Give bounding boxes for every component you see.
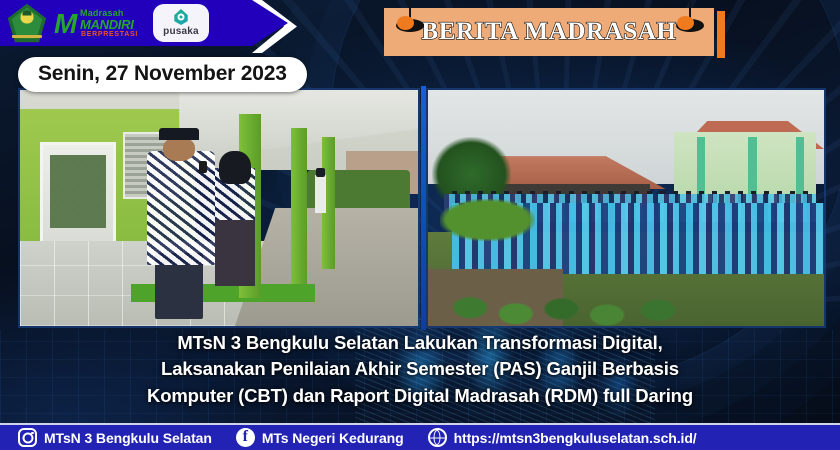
pin-icon-left (396, 12, 424, 30)
madrasah-mandiri-logo: M Madrasah MANDIRI BERPRESTASI (54, 3, 146, 43)
footer-website[interactable]: https://mtsn3bengkuluselatan.sch.id/ (428, 428, 697, 447)
headline-line-1: MTsN 3 Bengkulu Selatan Lakukan Transfor… (20, 330, 820, 356)
facebook-handle: MTs Negeri Kedurang (262, 430, 404, 446)
photo-divider-accent (421, 86, 426, 330)
footer-bar: MTsN 3 Bengkulu Selatan MTs Negeri Kedur… (0, 423, 840, 450)
headline-line-2: Laksanakan Penilaian Akhir Semester (PAS… (20, 356, 820, 382)
mandiri-line3: BERPRESTASI (81, 31, 138, 38)
news-banner-title: BERITA MADRASAH (421, 18, 676, 46)
footer-facebook[interactable]: MTs Negeri Kedurang (236, 428, 404, 447)
instagram-handle: MTsN 3 Bengkulu Selatan (44, 430, 212, 446)
footer-instagram[interactable]: MTsN 3 Bengkulu Selatan (18, 428, 212, 447)
news-poster: M Madrasah MANDIRI BERPRESTASI pusaka Se… (0, 0, 840, 450)
pusaka-drop-icon (173, 9, 189, 25)
photo-principal-speech (20, 90, 418, 326)
instagram-icon[interactable] (18, 428, 37, 447)
globe-icon[interactable] (428, 428, 447, 447)
facebook-icon[interactable] (236, 428, 255, 447)
news-banner-wrapper: BERITA MADRASAH (384, 8, 724, 56)
headline: MTsN 3 Bengkulu Selatan Lakukan Transfor… (20, 330, 820, 409)
logo-banner: M Madrasah MANDIRI BERPRESTASI pusaka (0, 0, 288, 46)
headline-line-3: Komputer (CBT) dan Raport Digital Madras… (20, 383, 820, 409)
website-url: https://mtsn3bengkuluselatan.sch.id/ (454, 430, 697, 446)
news-banner: BERITA MADRASAH (384, 8, 714, 56)
date-badge: Senin, 27 November 2023 (18, 57, 307, 92)
pusaka-logo: pusaka (153, 4, 209, 42)
pin-icon-right (676, 12, 704, 30)
kemenag-logo (7, 3, 47, 43)
photo-student-assembly (428, 90, 824, 326)
news-banner-orange-accent (717, 11, 725, 58)
pusaka-label: pusaka (163, 26, 199, 37)
mandiri-m-mark: M (54, 10, 75, 38)
mandiri-line2: MANDIRI (80, 18, 134, 31)
